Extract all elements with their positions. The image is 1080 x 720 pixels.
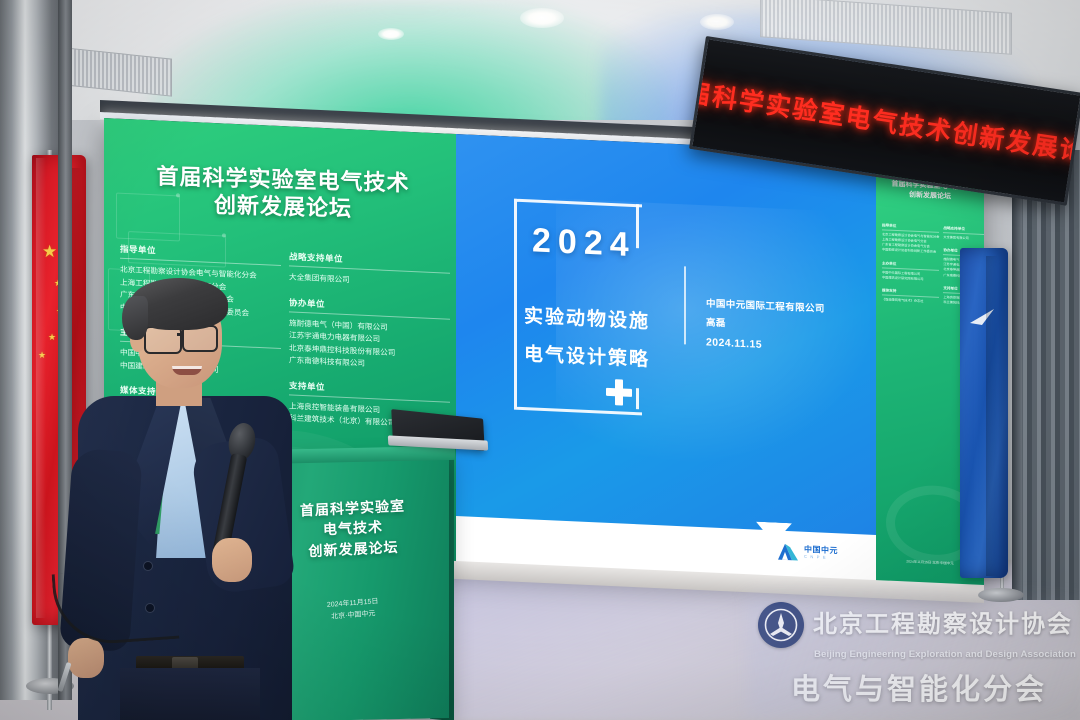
slide-title-line-1: 实验动物设施	[524, 301, 650, 334]
curtain	[1018, 150, 1080, 600]
watermark: 北京工程勘察设计协会 Beijing Engineering Explorati…	[758, 602, 1080, 714]
panel-column-left: 指导单位 北京工程勘察设计协会电气与智能化分会 上海工程勘察设计协会电气分会 广…	[882, 223, 939, 304]
speaker-mouth	[172, 366, 202, 375]
column-heading: 战略支持单位	[289, 250, 450, 273]
led-banner-text: 首届科学实验室电气技术创新发展论坛	[689, 69, 1080, 173]
slide-frame-decoration	[636, 204, 639, 248]
slide-presenter-info: 中国中元国际工程有限公司 高磊 2024.11.15	[706, 295, 825, 358]
column-item: 《智能建筑电气技术》杂志社	[882, 297, 939, 305]
logo-subtext: C N P E	[804, 554, 838, 560]
panel-forum-title: 首届科学实验室电气技术 创新发展论坛	[118, 162, 448, 226]
speaker-right-hand	[212, 538, 252, 582]
slide-divider	[684, 266, 686, 344]
column-heading: 媒体支持	[882, 288, 939, 298]
column-heading: 指导单位	[120, 243, 281, 266]
column-heading: 主办单位	[882, 261, 939, 271]
glasses-bridge	[177, 333, 184, 336]
company-flag	[960, 248, 1008, 578]
conference-photo-scene: 首届科学实验室电气技术 创新发展论坛 指导单位 北京工程勘察设计协会电气与智能化…	[0, 0, 1080, 720]
slide-frame-decoration	[636, 388, 639, 409]
curtain-edge	[1012, 150, 1022, 600]
speaker-person	[60, 270, 310, 720]
column-heading: 战略支持单位	[943, 226, 984, 235]
flag-star-icon: ★	[48, 333, 56, 342]
panel-column-right: 战略支持单位 大全集团有限公司 协办单位 施耐德电气（中国）有限公司 江苏宇通电…	[289, 250, 450, 432]
zhongyuan-logo: 中国中元 C N P E	[776, 541, 838, 564]
glasses-icon	[144, 326, 182, 354]
downlight-icon	[378, 28, 404, 40]
zhongyuan-logo-text: 中国中元 C N P E	[804, 545, 838, 560]
mountain-logo-icon	[776, 541, 800, 562]
speaker-trousers	[120, 668, 260, 720]
speaker-left-hand	[68, 638, 104, 678]
watermark-glow	[748, 596, 1080, 716]
downlight-icon	[520, 8, 564, 28]
medical-cross-icon	[606, 379, 632, 406]
downlight-icon	[700, 14, 734, 30]
speaker-hair-side	[122, 296, 148, 340]
presenter-clicker	[57, 662, 71, 692]
column-heading: 指导单位	[882, 223, 939, 233]
slide-year: 2024	[532, 221, 636, 265]
flag-fold	[986, 256, 998, 576]
flag-fold	[36, 158, 46, 618]
slide-title-line-2: 电气设计策略	[524, 339, 650, 372]
presentation-slide: 7825 2024 实验动物设施 电气设计策略 中国中元国际工程有限公司 高磊 …	[456, 134, 876, 583]
